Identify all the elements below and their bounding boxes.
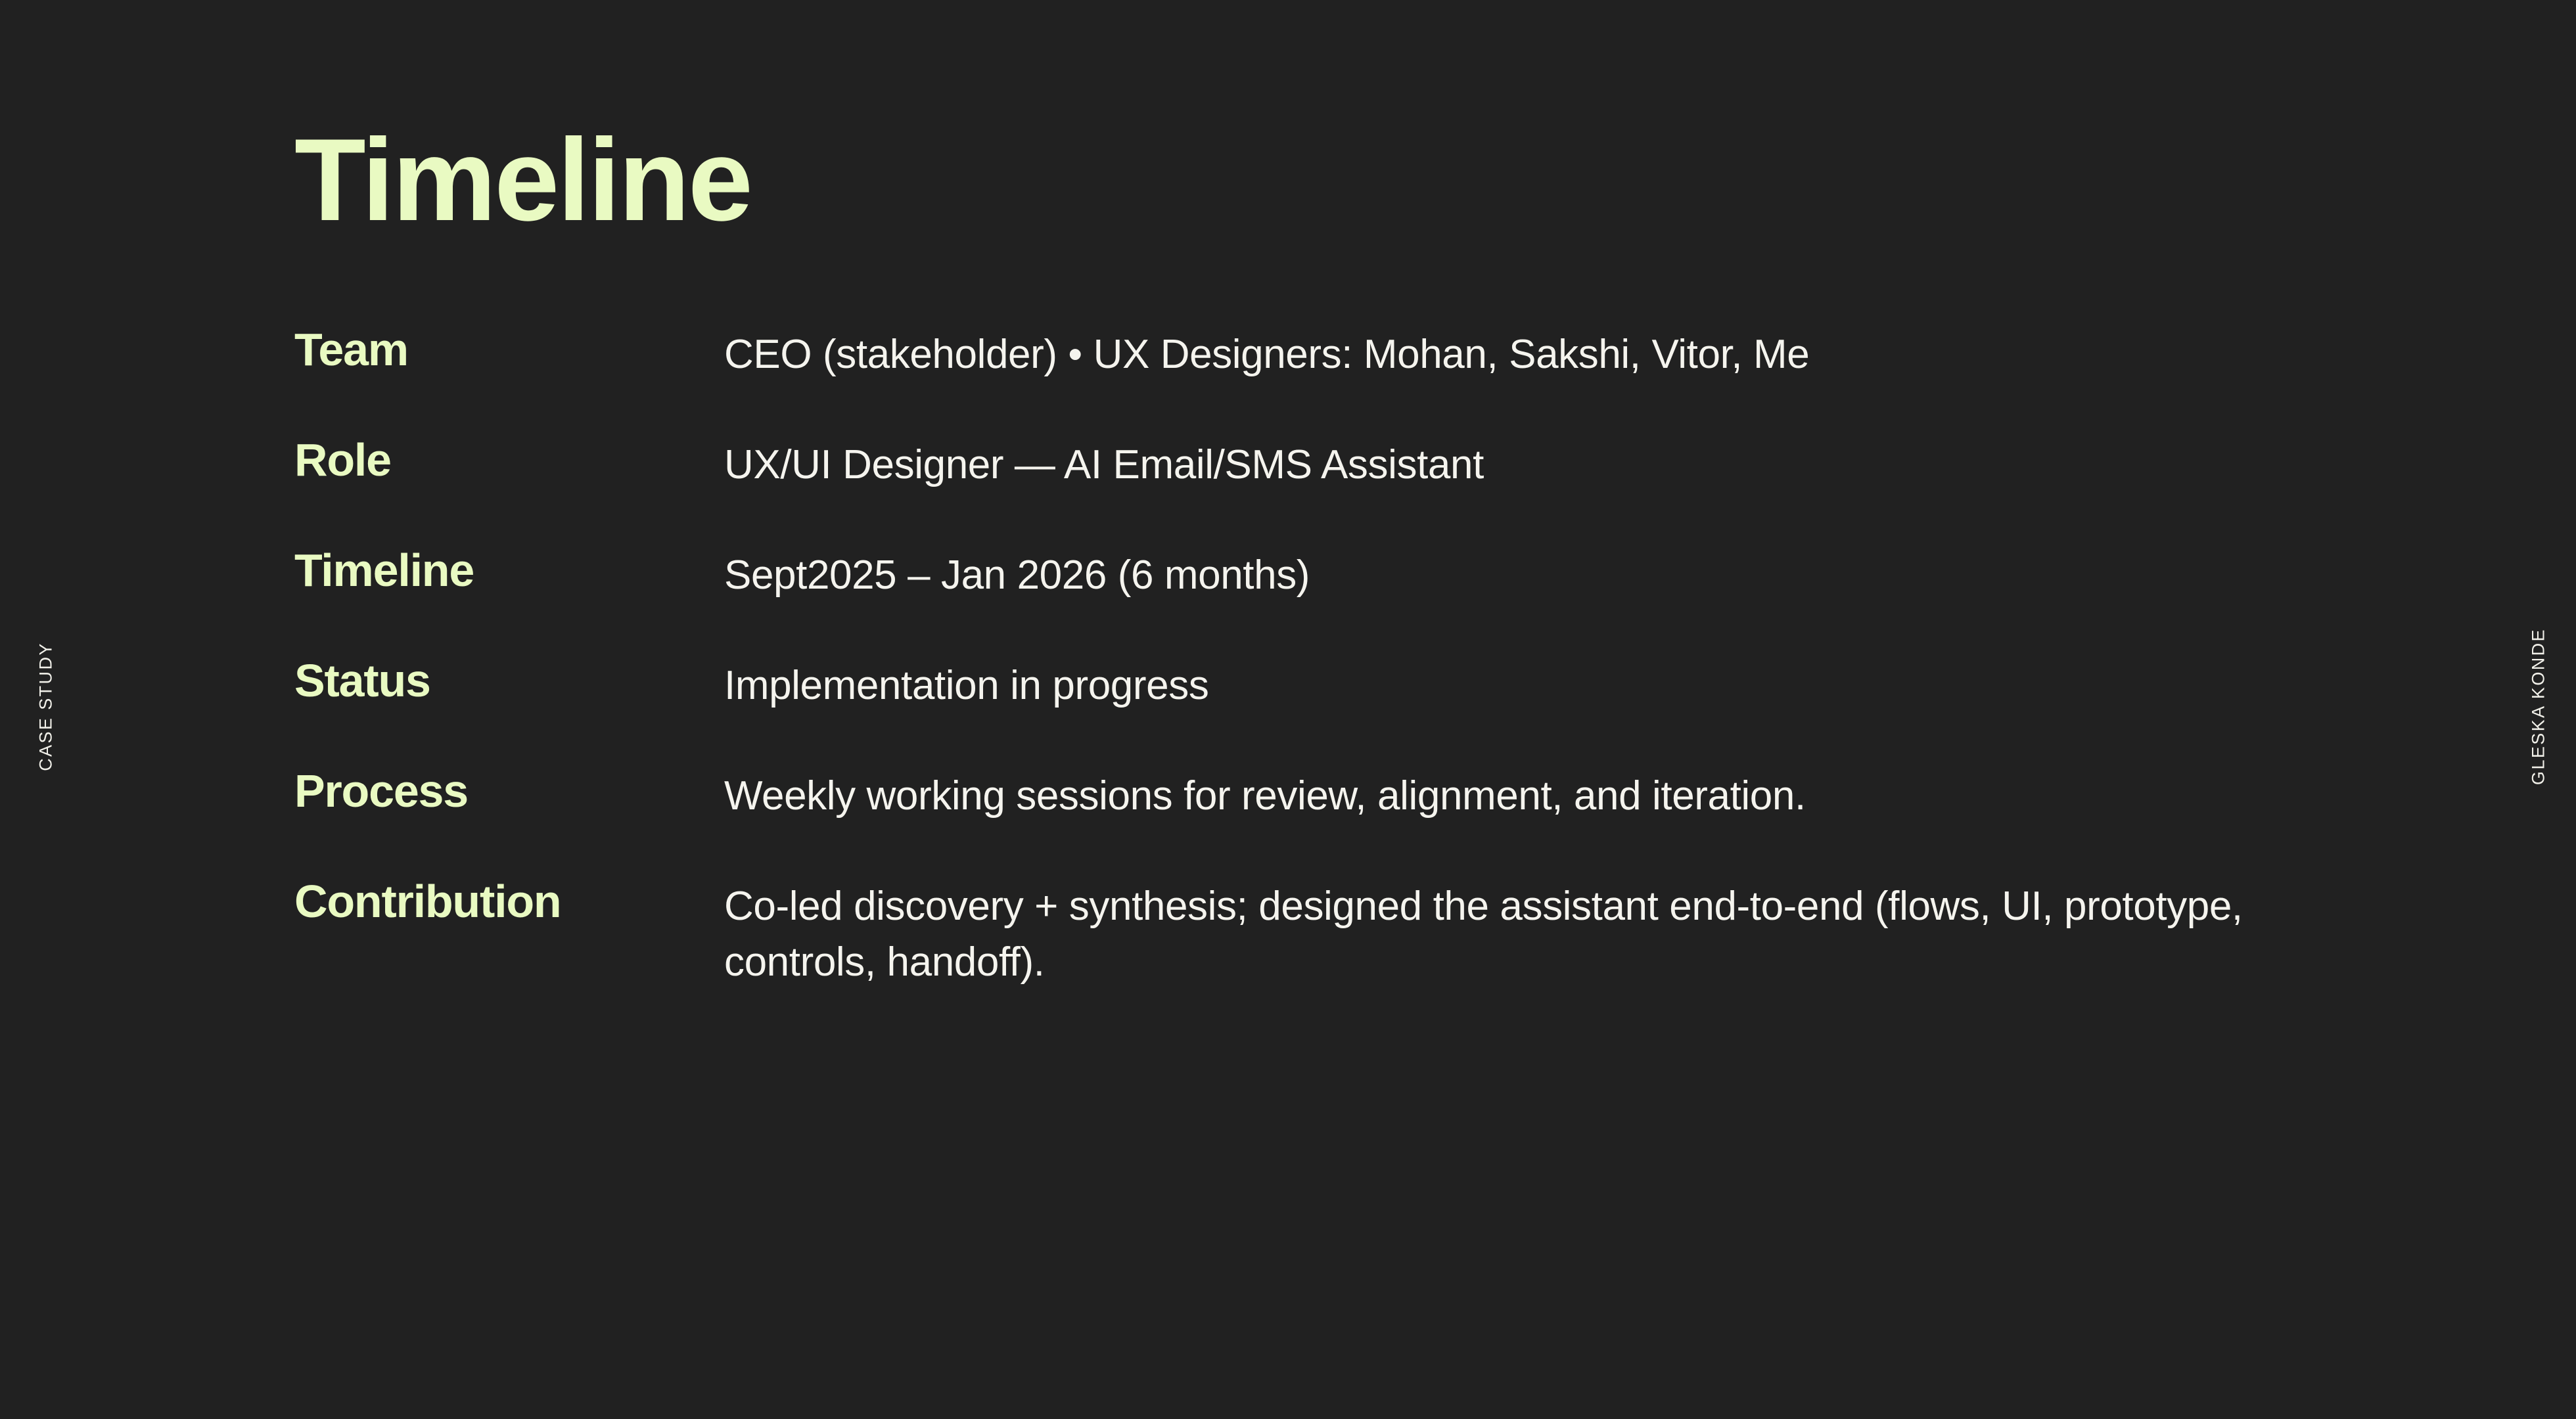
meta-label-status: Status xyxy=(294,654,702,708)
page-title: Timeline xyxy=(294,122,751,238)
slide-canvas: CASE STUDY GLESKA KONDE Timeline Team CE… xyxy=(0,0,2576,1419)
meta-value-timeline: Sept2025 – Jan 2026 (6 months) xyxy=(724,548,2314,604)
meta-row-timeline: Timeline Sept2025 – Jan 2026 (6 months) xyxy=(294,544,2332,654)
meta-row-team: Team CEO (stakeholder) • UX Designers: M… xyxy=(294,323,2332,434)
meta-label-team: Team xyxy=(294,323,702,376)
meta-value-process: Weekly working sessions for review, alig… xyxy=(724,769,2314,824)
meta-label-timeline: Timeline xyxy=(294,544,702,597)
meta-value-team: CEO (stakeholder) • UX Designers: Mohan,… xyxy=(724,327,2314,383)
meta-value-status: Implementation in progress xyxy=(724,658,2314,714)
meta-label-role: Role xyxy=(294,434,702,487)
meta-label-process: Process xyxy=(294,765,702,818)
meta-value-role: UX/UI Designer — AI Email/SMS Assistant xyxy=(724,438,2314,493)
meta-label-contribution: Contribution xyxy=(294,875,702,928)
meta-row-status: Status Implementation in progress xyxy=(294,654,2332,765)
meta-table: Team CEO (stakeholder) • UX Designers: M… xyxy=(294,323,2332,875)
meta-row-process: Process Weekly working sessions for revi… xyxy=(294,765,2332,875)
side-rail-case-study: CASE STUDY xyxy=(36,635,57,779)
side-rail-author: GLESKA KONDE xyxy=(2529,615,2549,799)
meta-value-contribution: Co-led discovery + synthesis; designed t… xyxy=(724,879,2314,991)
meta-row-role: Role UX/UI Designer — AI Email/SMS Assis… xyxy=(294,434,2332,544)
